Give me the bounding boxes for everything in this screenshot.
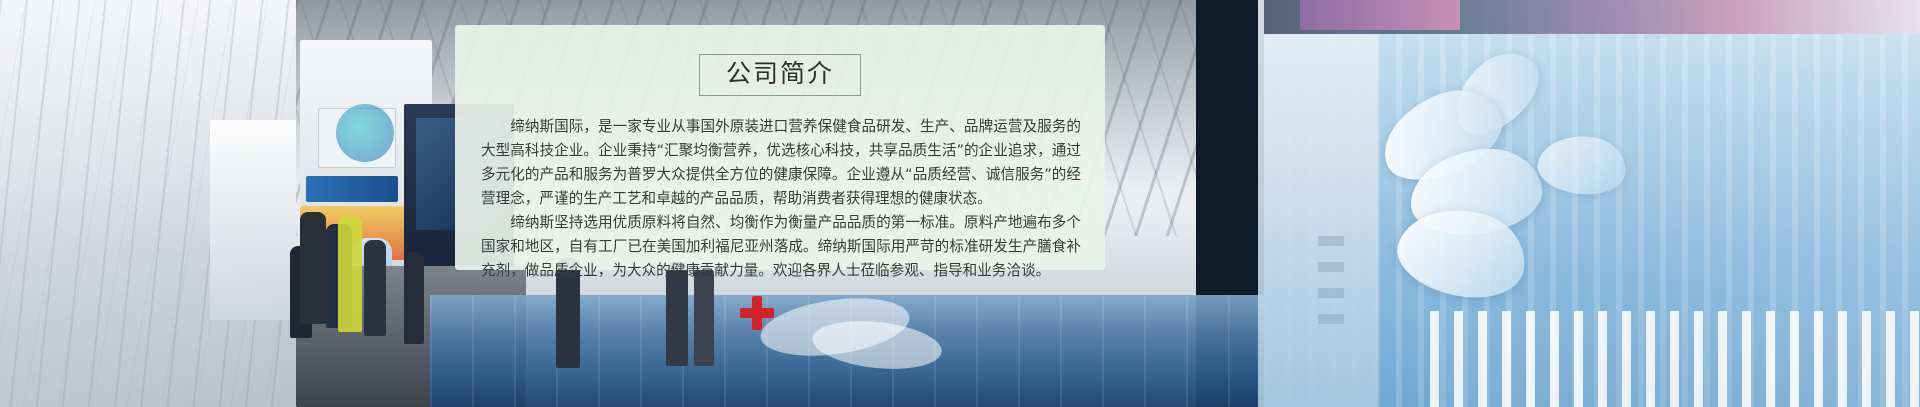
- page-title: 公司简介: [726, 59, 834, 88]
- section-title-box: 公司简介: [699, 54, 861, 96]
- profile-paragraph-1: 缔纳斯国际，是一家专业从事国外原装进口营养保健食品研发、生产、品牌运营及服务的大…: [481, 115, 1081, 211]
- company-profile-card: 公司简介 缔纳斯国际，是一家专业从事国外原装进口营养保健食品研发、生产、品牌运营…: [455, 25, 1105, 270]
- section-title-wrapper: 公司简介: [455, 54, 1105, 96]
- company-profile-body: 缔纳斯国际，是一家专业从事国外原装进口营养保健食品研发、生产、品牌运营及服务的大…: [481, 115, 1081, 283]
- profile-paragraph-2: 缔纳斯坚持选用优质原料将自然、均衡作为衡量产品品质的第一标准。原料产地遍布多个国…: [481, 211, 1081, 283]
